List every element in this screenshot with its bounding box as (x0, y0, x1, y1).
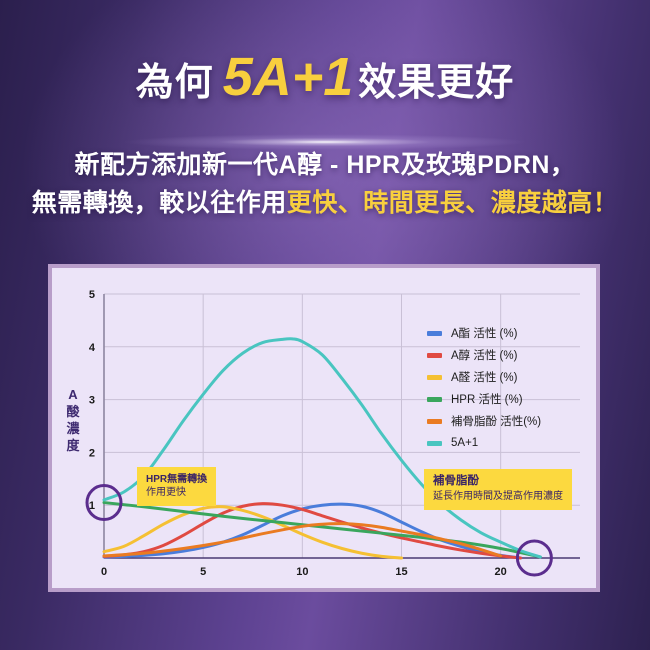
legend-swatch-icon (427, 441, 442, 446)
annotation-hpr-sub: 作用更快 (146, 486, 207, 499)
chart-legend: A酯 活性 (%)A醇 活性 (%)A醛 活性 (%)HPR 活性 (%)補骨脂… (427, 322, 597, 454)
y-axis-title: A酸濃度 (64, 386, 82, 454)
legend-item-label: HPR 活性 (%) (451, 391, 523, 407)
poster-root: 為何5A+1效果更好 新配方添加新一代A醇 - HPR及玫瑰PDRN， 無需轉換… (0, 0, 650, 650)
legend-item-label: A醇 活性 (%) (451, 347, 517, 363)
subtitle-line-1: 新配方添加新一代A醇 - HPR及玫瑰PDRN， (0, 148, 650, 186)
legend-item[interactable]: HPR 活性 (%) (427, 388, 597, 410)
subtitle-line2-highlight-text: 更快、時間更長、濃度越高！ (287, 189, 619, 217)
annotation-hpr-title: HPR無需轉換 (146, 473, 207, 486)
legend-swatch-icon (427, 353, 442, 358)
x-tick-label: 15 (395, 566, 407, 578)
y-axis-title-char: A (64, 386, 82, 403)
legend-item[interactable]: 補骨脂酚 活性(%) (427, 410, 597, 432)
x-tick-label: 5 (200, 566, 206, 578)
y-tick-label: 5 (89, 289, 95, 301)
x-tick-label: 0 (101, 566, 107, 578)
subtitle-line-2: 無需轉換，較以往作用更快、時間更長、濃度越高！ (0, 186, 650, 224)
subtitle-line2-white-text: 無需轉換，較以往作用 (32, 189, 287, 217)
page-title: 為何5A+1效果更好 (0, 50, 650, 104)
legend-swatch-icon (427, 331, 442, 336)
annotation-bakuchiol-title: 補骨脂酚 (433, 475, 563, 488)
legend-swatch-icon (427, 375, 442, 380)
y-axis-title-char: 酸 (64, 403, 82, 420)
y-tick-label: 4 (89, 342, 96, 354)
legend-item-label: 5A+1 (451, 437, 478, 449)
annotation-bakuchiol-sub: 延長作用時間及提高作用濃度 (433, 490, 563, 503)
x-tick-label: 20 (495, 566, 507, 578)
chart-panel: 1234505101520 A酸濃度 A酯 活性 (%)A醇 活性 (%)A醛 … (48, 264, 600, 592)
legend-item[interactable]: A酯 活性 (%) (427, 322, 597, 344)
legend-swatch-icon (427, 397, 442, 402)
legend-item-label: 補骨脂酚 活性(%) (451, 413, 541, 429)
y-tick-label: 2 (89, 447, 95, 459)
subtitle-block: 新配方添加新一代A醇 - HPR及玫瑰PDRN， 無需轉換，較以往作用更快、時間… (0, 148, 650, 224)
headline-accent: 5A+1 (214, 47, 359, 107)
annotation-hpr: HPR無需轉換 作用更快 (137, 467, 216, 506)
x-tick-label: 10 (296, 566, 308, 578)
subtitle-line1-text: 新配方添加新一代A醇 - HPR及玫瑰PDRN， (75, 151, 576, 179)
legend-item[interactable]: 5A+1 (427, 432, 597, 454)
y-axis-title-char: 濃 (64, 420, 82, 437)
annotation-bakuchiol: 補骨脂酚 延長作用時間及提高作用濃度 (424, 469, 572, 510)
legend-item[interactable]: A醛 活性 (%) (427, 366, 597, 388)
legend-item-label: A醛 活性 (%) (451, 369, 517, 385)
headline-prefix: 為何 (136, 62, 214, 104)
y-axis-title-char: 度 (64, 437, 82, 454)
legend-item[interactable]: A醇 活性 (%) (427, 344, 597, 366)
headline-suffix: 效果更好 (358, 62, 514, 104)
legend-item-label: A酯 活性 (%) (451, 325, 517, 341)
legend-swatch-icon (427, 419, 442, 424)
y-tick-label: 3 (89, 395, 95, 407)
